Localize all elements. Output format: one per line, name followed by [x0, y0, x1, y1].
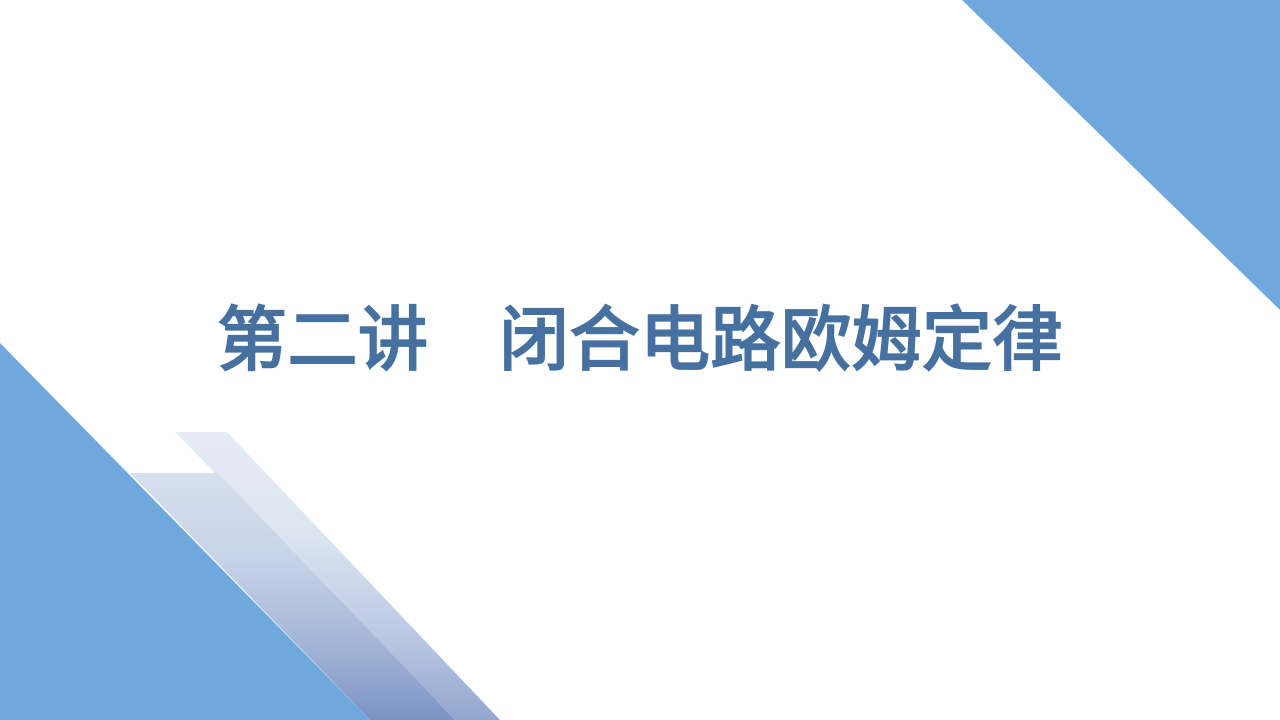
top-right-corner-triangle-icon	[962, 0, 1280, 310]
slide-canvas: 第二讲 闭合电路欧姆定律	[0, 0, 1280, 720]
title-container: 第二讲 闭合电路欧姆定律	[0, 284, 1280, 396]
bottom-left-ribbon-inner-icon	[130, 473, 455, 720]
bottom-left-ribbon-outer-icon	[175, 432, 500, 720]
bottom-left-corner-triangle-icon	[0, 343, 370, 720]
page-title: 第二讲 闭合电路欧姆定律	[217, 301, 1063, 379]
